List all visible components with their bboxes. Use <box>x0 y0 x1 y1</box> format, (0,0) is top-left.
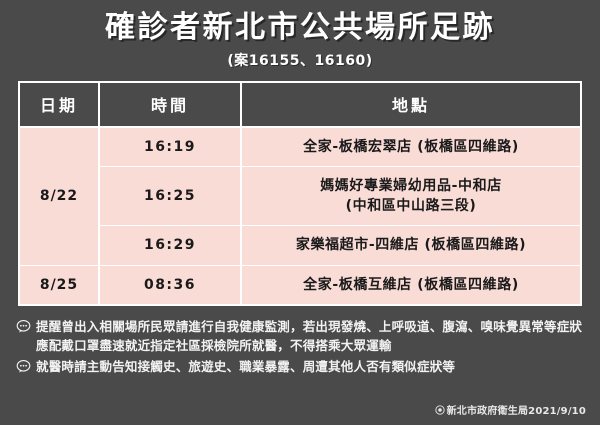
cell-place: 全家-板橋宏翠店 (板橋區四維路) <box>241 127 580 167</box>
table-row: 16:25 媽媽好專業婦幼用品-中和店 (中和區中山路三段) <box>20 166 580 226</box>
speech-bubble-icon <box>16 319 31 334</box>
cell-date: 8/25 <box>20 265 99 304</box>
column-header-date: 日期 <box>20 83 99 127</box>
table-body: 8/22 16:19 全家-板橋宏翠店 (板橋區四維路) 16:25 媽媽好專業… <box>20 127 580 304</box>
place-line-1: 媽媽好專業婦幼用品-中和店 <box>320 178 502 194</box>
speech-bubble-icon <box>16 359 31 374</box>
column-header-place: 地點 <box>241 83 580 127</box>
cell-time: 16:19 <box>99 127 241 167</box>
credit-line: 新北市政府衛生局2021/9/10 <box>435 402 586 417</box>
table-header-row: 日期 時間 地點 <box>20 83 580 127</box>
cell-place: 媽媽好專業婦幼用品-中和店 (中和區中山路三段) <box>241 166 580 226</box>
table-header: 日期 時間 地點 <box>20 83 580 127</box>
note-text: 提醒曾出入相關場所民眾請進行自我健康監測，若出現發燒、上呼吸道、腹瀉、嗅味覺異常… <box>36 317 584 356</box>
footprint-table-container: 日期 時間 地點 8/22 16:19 全家-板橋宏翠店 (板橋區四維路) 16… <box>18 81 582 306</box>
page-header: 確診者新北市公共場所足跡 (案16155、16160) <box>0 0 600 70</box>
government-seal-icon <box>435 405 445 415</box>
note-item: 提醒曾出入相關場所民眾請進行自我健康監測，若出現發燒、上呼吸道、腹瀉、嗅味覺異常… <box>16 317 584 356</box>
cell-date: 8/22 <box>20 127 99 266</box>
cell-time: 16:25 <box>99 166 241 226</box>
credit-text: 新北市政府衛生局2021/9/10 <box>447 402 586 417</box>
place-line-1: 全家-板橋宏翠店 (板橋區四維路) <box>303 139 519 155</box>
cell-place: 家樂福超市-四維店 (板橋區四維路) <box>241 226 580 265</box>
footprint-table: 日期 時間 地點 8/22 16:19 全家-板橋宏翠店 (板橋區四維路) 16… <box>20 83 580 304</box>
note-text: 就醫時請主動告知接觸史、旅遊史、職業暴露、周遭其他人否有類似症狀等 <box>36 357 584 376</box>
place-line-2: (中和區中山路三段) <box>246 196 576 216</box>
cell-time: 16:29 <box>99 226 241 265</box>
cell-place: 全家-板橋互維店 (板橋區四維路) <box>241 265 580 304</box>
notes-section: 提醒曾出入相關場所民眾請進行自我健康監測，若出現發燒、上呼吸道、腹瀉、嗅味覺異常… <box>16 317 584 376</box>
place-line-1: 全家-板橋互維店 (板橋區四維路) <box>303 277 519 293</box>
place-line-1: 家樂福超市-四維店 (板橋區四維路) <box>296 237 526 253</box>
column-header-time: 時間 <box>99 83 241 127</box>
page-subtitle: (案16155、16160) <box>0 50 600 70</box>
cell-time: 08:36 <box>99 265 241 304</box>
table-row: 16:29 家樂福超市-四維店 (板橋區四維路) <box>20 226 580 265</box>
page-title: 確診者新北市公共場所足跡 <box>0 9 600 47</box>
table-row: 8/22 16:19 全家-板橋宏翠店 (板橋區四維路) <box>20 127 580 167</box>
note-item: 就醫時請主動告知接觸史、旅遊史、職業暴露、周遭其他人否有類似症狀等 <box>16 357 584 376</box>
table-row: 8/25 08:36 全家-板橋互維店 (板橋區四維路) <box>20 265 580 304</box>
